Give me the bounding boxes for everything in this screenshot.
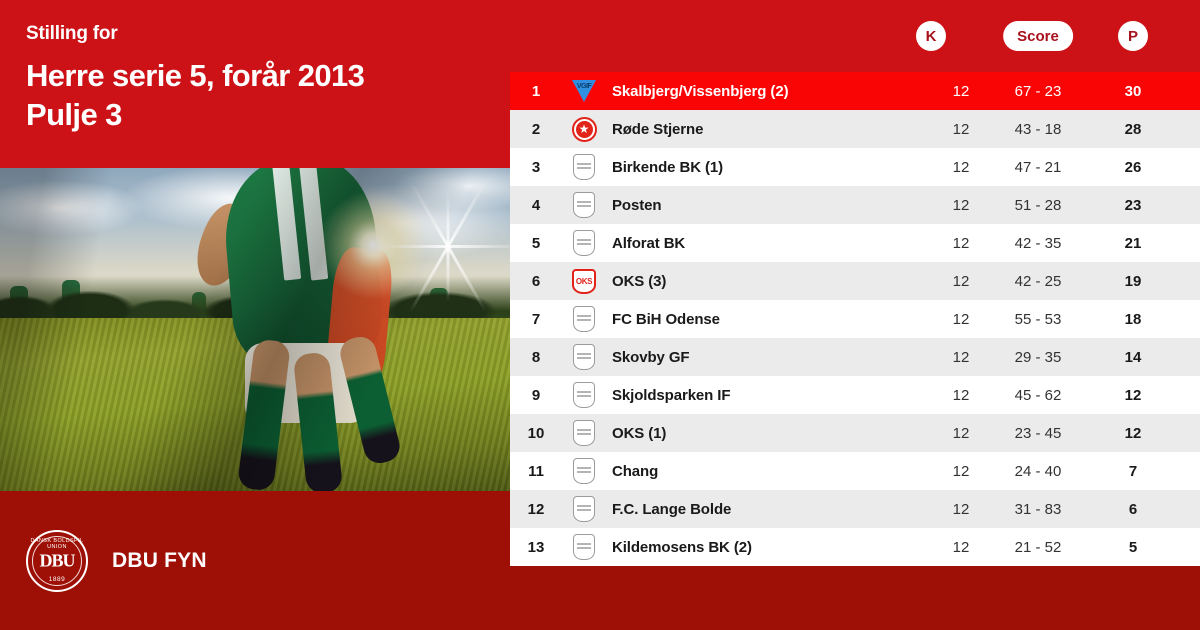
red-star-crest: ★ [572,117,597,142]
row-goal-score: 45 - 62 [978,387,1098,404]
row-goal-score: 31 - 83 [978,501,1098,518]
page-title-line-2: Pulje 3 [26,95,510,134]
standings-table-header: K Score P [510,0,1200,72]
row-club-crest: OKS [562,269,606,294]
table-bottom-spacer [510,566,1200,630]
row-points: 28 [1103,121,1163,138]
row-rank: 8 [510,349,562,366]
table-row[interactable]: 12F.C. Lange Bolde1231 - 836 [510,490,1200,528]
row-rank: 5 [510,235,562,252]
generic-shield-crest [573,496,595,522]
table-row[interactable]: 5Alforat BK1242 - 3521 [510,224,1200,262]
column-header-matches: K [916,21,946,51]
table-row[interactable]: 1VGIFSkalbjerg/Vissenbjerg (2)1267 - 233… [510,72,1200,110]
row-goal-score: 55 - 53 [978,311,1098,328]
table-row[interactable]: 4Posten1251 - 2823 [510,186,1200,224]
row-goal-score: 47 - 21 [978,159,1098,176]
row-goal-score: 21 - 52 [978,539,1098,556]
table-row[interactable]: 8Skovby GF1229 - 3514 [510,338,1200,376]
row-points: 21 [1103,235,1163,252]
row-points: 30 [1103,83,1163,100]
table-row[interactable]: 2★Røde Stjerne1243 - 1828 [510,110,1200,148]
row-club-crest [562,534,606,560]
kicker-label: Stilling for [26,24,510,45]
generic-shield-crest [573,382,595,408]
row-club-crest [562,192,606,218]
table-row[interactable]: 10OKS (1)1223 - 4512 [510,414,1200,452]
row-club-crest: ★ [562,117,606,142]
row-club-crest [562,382,606,408]
row-points: 23 [1103,197,1163,214]
row-club-crest [562,420,606,446]
table-row[interactable]: 11Chang1224 - 407 [510,452,1200,490]
generic-shield-crest [573,230,595,256]
row-rank: 6 [510,273,562,290]
table-row[interactable]: 7FC BiH Odense1255 - 5318 [510,300,1200,338]
row-points: 12 [1103,387,1163,404]
row-goal-score: 24 - 40 [978,463,1098,480]
row-goal-score: 42 - 35 [978,235,1098,252]
dbu-seal-logo: DANSK BOLDSPIL UNION DBU 1889 [26,530,88,592]
row-goal-score: 23 - 45 [978,425,1098,442]
row-rank: 7 [510,311,562,328]
row-club-crest [562,154,606,180]
row-points: 26 [1103,159,1163,176]
generic-shield-crest [573,458,595,484]
row-rank: 1 [510,83,562,100]
row-points: 14 [1103,349,1163,366]
row-points: 12 [1103,425,1163,442]
table-row[interactable]: 13Kildemosens BK (2)1221 - 525 [510,528,1200,566]
dbu-seal-year: 1889 [28,576,86,583]
row-club-crest [562,344,606,370]
row-club-crest [562,458,606,484]
row-club-crest [562,230,606,256]
row-goal-score: 42 - 25 [978,273,1098,290]
row-points: 6 [1103,501,1163,518]
row-goal-score: 43 - 18 [978,121,1098,138]
oks-shield-crest: OKS [572,269,596,294]
row-goal-score: 67 - 23 [978,83,1098,100]
title-banner: Stilling for Herre serie 5, forår 2013 P… [0,0,510,168]
page-title-line-1: Herre serie 5, forår 2013 [26,58,364,93]
row-rank: 4 [510,197,562,214]
row-points: 7 [1103,463,1163,480]
row-goal-score: 29 - 35 [978,349,1098,366]
table-row[interactable]: 6OKSOKS (3)1242 - 2519 [510,262,1200,300]
generic-shield-crest [573,534,595,560]
generic-shield-crest [573,420,595,446]
row-rank: 11 [510,463,562,480]
table-row[interactable]: 9Skjoldsparken IF1245 - 6212 [510,376,1200,414]
row-rank: 13 [510,539,562,556]
generic-shield-crest [573,306,595,332]
row-rank: 2 [510,121,562,138]
star-icon: ★ [579,123,590,135]
footer-bar: DANSK BOLDSPIL UNION DBU 1889 DBU FYN [0,491,510,630]
page-title: Herre serie 5, forår 2013 Pulje 3 [26,56,510,134]
generic-shield-crest [573,154,595,180]
dbu-seal-monogram: DBU [28,550,86,571]
row-points: 19 [1103,273,1163,290]
generic-shield-crest [573,192,595,218]
photo-shadow-overlay [0,168,510,491]
row-points: 5 [1103,539,1163,556]
row-goal-score: 51 - 28 [978,197,1098,214]
row-rank: 12 [510,501,562,518]
football-match-photo [0,168,510,491]
triangle-vgif-crest: VGIF [572,80,596,102]
row-rank: 9 [510,387,562,404]
row-rank: 10 [510,425,562,442]
row-club-crest [562,496,606,522]
dbu-fyn-wordmark: DBU FYN [112,549,207,573]
generic-shield-crest [573,344,595,370]
column-header-score: Score [1003,21,1073,51]
row-club-crest: VGIF [562,80,606,102]
left-panel: Stilling for Herre serie 5, forår 2013 P… [0,0,510,630]
standings-table: 1VGIFSkalbjerg/Vissenbjerg (2)1267 - 233… [510,72,1200,566]
row-rank: 3 [510,159,562,176]
row-club-crest [562,306,606,332]
row-points: 18 [1103,311,1163,328]
table-row[interactable]: 3Birkende BK (1)1247 - 2126 [510,148,1200,186]
dbu-seal-ring-text: DANSK BOLDSPIL UNION [28,538,86,550]
column-header-points: P [1118,21,1148,51]
